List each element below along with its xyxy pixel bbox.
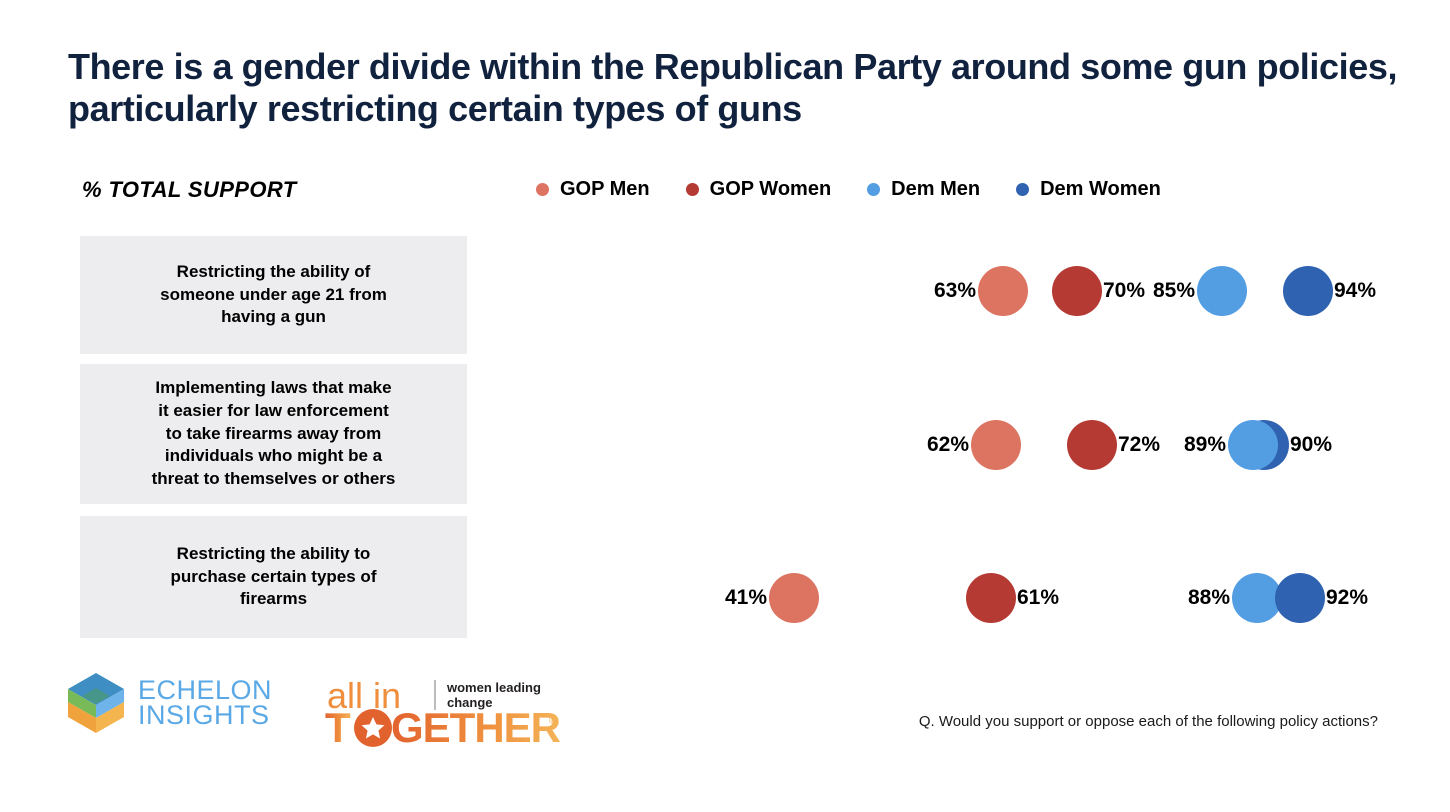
data-point-value: 72%: [1118, 434, 1160, 455]
page-title: There is a gender divide within the Repu…: [68, 46, 1398, 131]
echelon-logo-line2: INSIGHTS: [138, 703, 272, 728]
survey-question-note: Q. Would you support or oppose each of t…: [919, 713, 1378, 730]
legend-label: GOP Men: [560, 178, 650, 201]
data-point-value: 92%: [1326, 587, 1368, 608]
data-point-value: 70%: [1103, 280, 1145, 301]
row-label-box: Restricting the ability of someone under…: [80, 236, 467, 354]
legend-dot-icon: [867, 183, 880, 196]
data-point-value: 62%: [915, 434, 969, 455]
data-point-gop-women: [1052, 266, 1102, 316]
echelon-cube-icon: [66, 672, 126, 734]
data-point-gop-men: [978, 266, 1028, 316]
legend: GOP MenGOP WomenDem MenDem Women: [536, 178, 1161, 201]
data-point-gop-women: [966, 573, 1016, 623]
legend-label: Dem Women: [1040, 178, 1161, 201]
legend-dot-icon: [686, 183, 699, 196]
data-point-dem-women: [1239, 420, 1289, 470]
row-label-box: Restricting the ability to purchase cert…: [80, 516, 467, 638]
echelon-insights-logo: ECHELON INSIGHTS: [66, 672, 272, 734]
svg-text:®: ®: [549, 715, 557, 727]
all-in-together-logo: all in women leading change T GETHER ®: [325, 676, 560, 753]
legend-dot-icon: [536, 183, 549, 196]
data-point-dem-women: [1283, 266, 1333, 316]
total-support-label: % TOTAL SUPPORT: [82, 177, 297, 203]
legend-dot-icon: [1016, 183, 1029, 196]
data-point-gop-women: [1067, 420, 1117, 470]
data-point-value: 94%: [1334, 280, 1376, 301]
data-point-gop-men: [971, 420, 1021, 470]
data-point-dem-men: [1197, 266, 1247, 316]
svg-text:GETHER: GETHER: [391, 704, 560, 748]
data-point-value: 88%: [1176, 587, 1230, 608]
data-point-value: 85%: [1141, 280, 1195, 301]
row-label-text: Restricting the ability to purchase cert…: [171, 543, 377, 611]
row-label-text: Implementing laws that make it easier fo…: [152, 377, 396, 490]
row-label-text: Restricting the ability of someone under…: [160, 261, 387, 329]
echelon-wordmark: ECHELON INSIGHTS: [138, 678, 272, 728]
data-point-value: 41%: [713, 587, 767, 608]
ait-tagline-line1: women leading: [446, 680, 541, 695]
data-point-value: 90%: [1290, 434, 1332, 455]
data-point-value: 89%: [1172, 434, 1226, 455]
legend-label: Dem Men: [891, 178, 980, 201]
data-point-dem-men: [1228, 420, 1278, 470]
ait-logo-graphic: all in women leading change T GETHER ®: [325, 676, 560, 748]
legend-item-dem-women: Dem Women: [1016, 178, 1161, 201]
row-label-box: Implementing laws that make it easier fo…: [80, 364, 467, 504]
legend-item-dem-men: Dem Men: [867, 178, 980, 201]
legend-item-gop-women: GOP Women: [686, 178, 832, 201]
legend-item-gop-men: GOP Men: [536, 178, 650, 201]
data-point-dem-women: [1275, 573, 1325, 623]
data-point-value: 61%: [1017, 587, 1059, 608]
data-point-dem-men: [1232, 573, 1282, 623]
data-point-value: 63%: [922, 280, 976, 301]
data-point-gop-men: [769, 573, 819, 623]
legend-label: GOP Women: [710, 178, 832, 201]
svg-text:T: T: [325, 704, 351, 748]
